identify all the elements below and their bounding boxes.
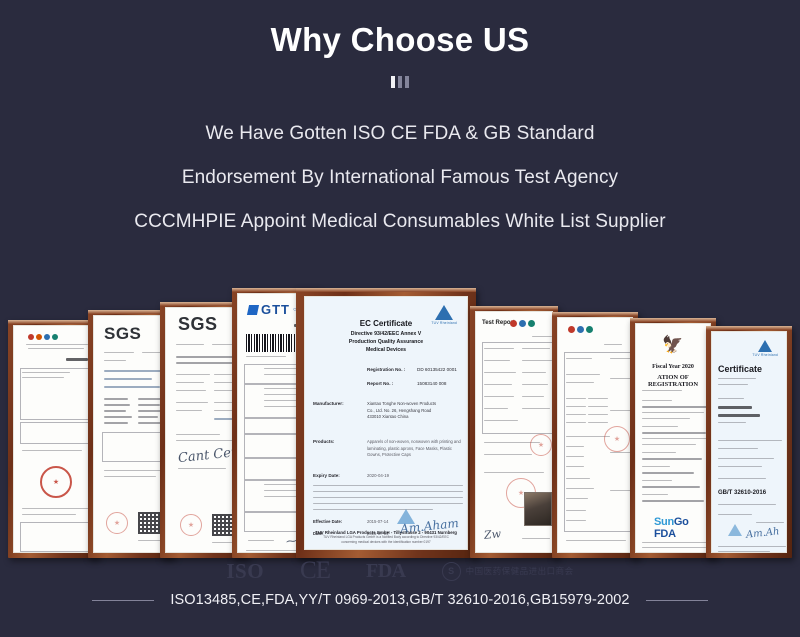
tuv-caption: TUV Rheinland <box>752 353 778 357</box>
cccmhpie-label: 中国医药保健品进出口商会 <box>466 565 574 577</box>
certificate-frame-1[interactable] <box>8 320 98 558</box>
ec-certificate-product-class: Medical Devices <box>305 347 467 354</box>
certificate-paper-9: TUV Rheinland Certificate GB/T 32610-201… <box>711 331 787 553</box>
certificate-frame-5[interactable]: TUV Rheinland EC Certificate Directive 9… <box>296 288 476 558</box>
cccmhpie-mark-icon: S <box>442 562 461 581</box>
page-title: Why Choose US <box>0 22 800 58</box>
sungo-fda-logo: SunGo FDA <box>654 516 710 540</box>
fda-logo: FDA <box>366 560 406 583</box>
signature: Cant Cen <box>177 445 240 466</box>
iso-logo: ISO <box>226 559 264 584</box>
signature: Zw <box>483 527 501 542</box>
registration-no-value: DD 60135422 0001 <box>417 367 457 372</box>
ec-certificate-footer-note: TUV Rheinland LGA Products GmbH is a Not… <box>319 535 453 545</box>
red-seal-icon <box>106 512 128 534</box>
title-divider <box>0 76 800 88</box>
subtitle-line-2: Endorsement By International Famous Test… <box>0 168 800 187</box>
ec-certificate-scope: Production Quality Assurance <box>305 339 467 346</box>
accreditation-logo-bar: ISO CE FDA S 中国医药保健品进出口商会 <box>0 552 800 590</box>
agency-logo-blue-icon <box>519 320 526 327</box>
standards-line: ISO13485,CE,FDA,YY/T 0969-2013,GB/T 3261… <box>0 592 800 608</box>
agency-logo-teal-icon <box>528 320 535 327</box>
certificate-paper-2: SGS <box>93 315 169 553</box>
certificate-heading-9: Certificate <box>718 364 762 374</box>
ce-logo: CE <box>300 557 330 585</box>
certificate-paper-8: 🦅 Fiscal Year 2020 ATION OF REGISTRATION… <box>635 323 711 553</box>
certificate-paper-7 <box>557 317 633 553</box>
effective-date-value: 2015-07-14 <box>367 519 388 524</box>
effective-date-label: Effective Date: <box>313 519 342 524</box>
tuv-triangle-icon <box>758 340 772 352</box>
subtitle-line-3: CCCMHPIE Appoint Medical Consumables Whi… <box>0 212 800 231</box>
agency-logo-red-icon <box>28 334 34 340</box>
divider-bar-2 <box>398 76 402 88</box>
agency-logo-teal-icon <box>586 326 593 333</box>
divider-bar-1 <box>391 76 395 88</box>
standard-code-9: GB/T 32610-2016 <box>718 490 766 496</box>
expiry-date-label: Expiry Date: <box>313 473 340 478</box>
product-photo <box>524 492 552 526</box>
certificate-paper-5: TUV Rheinland EC Certificate Directive 9… <box>304 296 468 550</box>
tuv-rheinland-logo: TUV Rheinland <box>752 340 778 357</box>
gtt-mark-icon <box>247 305 259 315</box>
subtitle-list: We Have Gotten ISO CE FDA & GB Standard … <box>0 124 800 231</box>
certificate-frame-7[interactable] <box>552 312 638 558</box>
cccmhpie-logo: S 中国医药保健品进出口商会 <box>442 562 574 581</box>
certificate-paper-6: Test Report <box>475 311 553 553</box>
signature: Am.Ah <box>746 526 781 540</box>
page-header: Why Choose US We Have Gotten ISO CE FDA … <box>0 0 800 231</box>
rule-right <box>646 600 708 601</box>
certificate-frame-6[interactable]: Test Report <box>470 306 558 558</box>
ec-certificate-footer-company: TUV Rheinland LGA Products GmbH - Tillys… <box>305 530 467 535</box>
tuv-triangle-icon <box>435 305 453 320</box>
ec-certificate-heading: EC Certificate <box>305 319 467 330</box>
red-seal-icon <box>604 426 630 452</box>
agency-logo-blue-icon <box>577 326 584 333</box>
eagle-crest-icon: 🦅 <box>662 336 683 353</box>
barcode-icon <box>246 334 302 352</box>
agency-logo-teal-icon <box>52 334 58 340</box>
certificate-frame-8[interactable]: 🦅 Fiscal Year 2020 ATION OF REGISTRATION… <box>630 318 716 558</box>
agency-logo-red-icon <box>510 320 517 327</box>
registration-no-label: Registration No. : <box>367 367 405 372</box>
sgs-logo: SGS <box>178 314 218 335</box>
products-value: Apparels of non-woven, nonwoven with pri… <box>367 439 463 459</box>
fda-fiscal-year: Fiscal Year 2020 <box>636 364 710 370</box>
fda-registration-title: ATION OF REGISTRATION <box>636 374 710 388</box>
report-no-label: Report No. : <box>367 381 393 386</box>
agency-logo-blue-icon <box>44 334 50 340</box>
certificate-frame-9[interactable]: TUV Rheinland Certificate GB/T 32610-201… <box>706 326 792 558</box>
red-seal-icon <box>180 514 202 536</box>
agency-logo-orange-icon <box>36 334 42 340</box>
gtt-logo: GTT○ <box>248 302 298 317</box>
ec-certificate-directive: Directive 93/42/EEC Annex V <box>305 331 467 338</box>
expiry-date-value: 2020-04-19 <box>367 473 389 478</box>
red-seal-icon <box>40 466 72 498</box>
red-seal-icon <box>530 434 552 456</box>
divider-bar-3 <box>405 76 409 88</box>
subtitle-line-1: We Have Gotten ISO CE FDA & GB Standard <box>0 124 800 143</box>
report-no-value: 15083140 008 <box>417 381 446 386</box>
sgs-logo: SGS <box>104 324 141 344</box>
agency-logos-1 <box>28 334 58 340</box>
tuv-triangle-stamp-icon <box>728 524 742 536</box>
products-label: Products: <box>313 439 334 444</box>
tuv-stamp-icon <box>728 524 742 536</box>
certificate-wall: SGS SGS <box>0 288 800 558</box>
certificate-paper-1 <box>13 325 93 553</box>
agency-logos-6 <box>510 320 535 327</box>
manufacturer-label: Manufacturer: <box>313 401 344 406</box>
agency-logo-red-icon <box>568 326 575 333</box>
manufacturer-value: Xiantao Tonghe Non-woven Products Co., L… <box>367 401 439 421</box>
rule-left <box>92 600 154 601</box>
agency-logos-7 <box>568 326 593 333</box>
standards-text: ISO13485,CE,FDA,YY/T 0969-2013,GB/T 3261… <box>170 592 629 608</box>
